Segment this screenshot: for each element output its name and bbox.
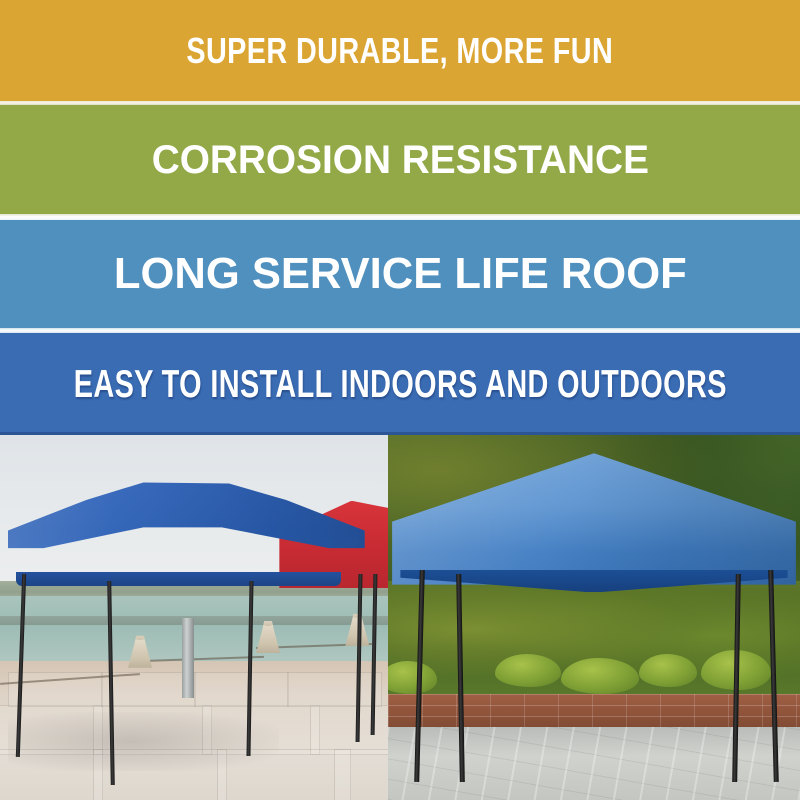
paving-tile — [194, 672, 289, 707]
paving-tile — [310, 705, 388, 754]
shrub — [495, 654, 561, 687]
feature-banner-text: SUPER DURABLE, MORE FUN — [187, 33, 614, 69]
feature-banner-text: LONG SERVICE LIFE ROOF — [114, 252, 687, 296]
feature-banner-easy-to-install: EASY TO INSTALL INDOORS AND OUTDOORS — [0, 333, 800, 435]
paving-tile — [334, 749, 388, 800]
product-photo-lakeside-canopy — [0, 435, 388, 800]
shrub — [639, 654, 697, 687]
paving-tile — [287, 672, 382, 707]
feature-banner-text: EASY TO INSTALL INDOORS AND OUTDOORS — [73, 365, 726, 404]
feature-banner-stack: SUPER DURABLE, MORE FUN CORROSION RESIST… — [0, 0, 800, 435]
product-photo-row — [0, 435, 800, 800]
feature-banner-text: CORROSION RESISTANCE — [151, 140, 648, 180]
product-photo-garden-canopy — [388, 435, 800, 800]
canopy-valance — [16, 572, 342, 587]
feature-banner-corrosion-resistance: CORROSION RESISTANCE — [0, 105, 800, 214]
paved-ground — [388, 727, 800, 800]
feature-banner-long-service-life-roof: LONG SERVICE LIFE ROOF — [0, 220, 800, 328]
lamp-post — [182, 618, 194, 698]
product-feature-image: SUPER DURABLE, MORE FUN CORROSION RESIST… — [0, 0, 800, 800]
feature-banner-super-durable: SUPER DURABLE, MORE FUN — [0, 0, 800, 101]
ground-shadow — [8, 712, 280, 770]
